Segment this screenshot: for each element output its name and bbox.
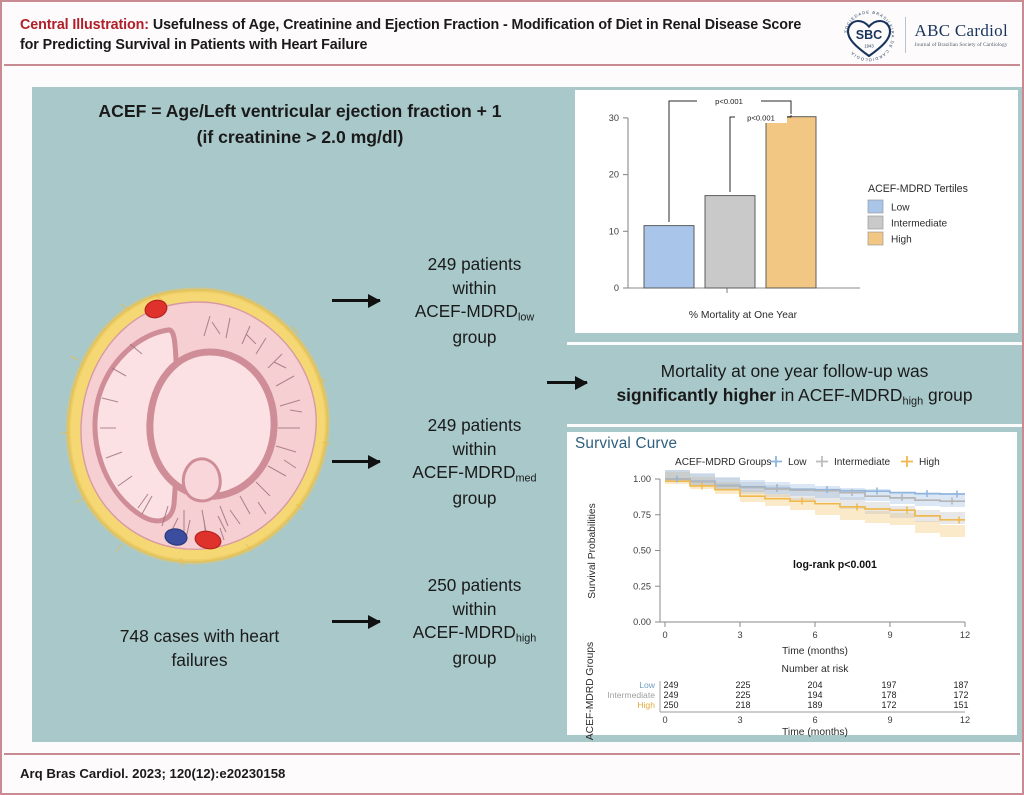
risk-table-x-ticks: 036 912: [662, 715, 970, 725]
svg-text:3: 3: [737, 715, 742, 725]
svg-text:249: 249: [663, 680, 678, 690]
conclusion-subscript: high: [902, 396, 923, 408]
risk-row-label-high: High: [637, 700, 655, 710]
heart-cross-section-illustration: [60, 282, 345, 572]
sbc-heart-logo-icon: SBC 1943 SOCIEDADE BRASILEIRA DE CARDIOL…: [842, 9, 896, 61]
flow-diagram-panel: ACEF = Age/Left ventricular ejection fra…: [32, 87, 567, 742]
arrow-to-med-group: [332, 460, 380, 463]
svg-text:12: 12: [960, 715, 970, 725]
group-high-count: 250 patients: [387, 574, 562, 598]
km-legend: ACEF-MDRD Groups Low Intermediate High: [675, 456, 940, 468]
bar-legend-label-low: Low: [891, 203, 910, 214]
bar-legend-title: ACEF-MDRD Tertiles: [868, 183, 968, 195]
survival-curve-title: Survival Curve: [575, 435, 677, 453]
km-legend-mark-intermediate: [816, 456, 828, 467]
risk-row-high: 250218 189172151: [663, 700, 968, 710]
risk-row-intermediate: 249225 194178172: [663, 690, 968, 700]
svg-text:197: 197: [881, 680, 896, 690]
central-illustration-label: Central Illustration:: [20, 17, 149, 33]
km-legend-label-intermediate: Intermediate: [834, 457, 890, 468]
svg-text:1.00: 1.00: [633, 474, 651, 484]
acef-equation-line2: (if creatinine > 2.0 mg/dl): [50, 125, 550, 151]
group-low-group: group: [387, 326, 562, 350]
risk-table-title: Number at risk: [782, 664, 850, 675]
svg-text:0.75: 0.75: [633, 510, 651, 520]
risk-table-y-label: ACEF-MDRD Groups: [585, 642, 596, 740]
total-cases-line1: 748 cases with heart: [77, 624, 322, 648]
risk-table-x-label: Time (months): [782, 727, 848, 738]
svg-text:172: 172: [881, 700, 896, 710]
risk-row-low: 249225 204197187: [663, 680, 968, 690]
bar-legend-label-high: High: [891, 235, 912, 246]
total-cases-line2: failures: [77, 648, 322, 672]
bar-legend-label-intermediate: Intermediate: [891, 219, 947, 230]
svg-text:12: 12: [960, 630, 970, 640]
central-illustration-page: Central Illustration: Usefulness of Age,…: [0, 0, 1024, 795]
svg-text:SBC: SBC: [855, 28, 881, 42]
svg-text:30: 30: [609, 113, 619, 123]
svg-text:0.00: 0.00: [633, 617, 651, 627]
km-legend-title: ACEF-MDRD Groups: [675, 457, 771, 468]
svg-text:6: 6: [812, 630, 817, 640]
svg-text:0: 0: [614, 283, 619, 293]
group-med-subscript: med: [516, 473, 537, 485]
bar-chart-svg: 0 10 20 30 p<0.001: [575, 90, 1018, 333]
group-low-subscript: low: [518, 312, 534, 324]
svg-text:249: 249: [663, 690, 678, 700]
group-med-label: 249 patients within ACEF-MDRDmed group: [387, 414, 562, 511]
group-med-within: within: [387, 438, 562, 462]
risk-row-label-intermediate: Intermediate: [607, 690, 655, 700]
km-x-ticks: 0 3 6 9 12: [662, 622, 970, 640]
arrow-to-high-group: [332, 620, 380, 623]
group-high-subscript: high: [516, 633, 536, 645]
group-med-count: 249 patients: [387, 414, 562, 438]
svg-text:189: 189: [807, 700, 822, 710]
survival-curve-chart: Survival Curve ACEF-MDRD Groups Low Inte…: [567, 432, 1017, 735]
arrow-to-conclusion: [547, 381, 587, 384]
conclusion-line1: Mortality at one year follow-up was: [616, 359, 972, 384]
svg-text:9: 9: [887, 630, 892, 640]
group-high-name: ACEF-MDRDhigh: [387, 621, 562, 646]
km-legend-mark-high: [901, 456, 913, 467]
bar-legend-swatch-low: [868, 200, 883, 213]
acef-equation: ACEF = Age/Left ventricular ejection fra…: [50, 99, 550, 150]
conclusion-line2: significantly higher in ACEF-MDRDhigh gr…: [616, 383, 972, 410]
bar-x-axis-label: % Mortality at One Year: [689, 310, 798, 321]
group-high-label: 250 patients within ACEF-MDRDhigh group: [387, 574, 562, 671]
svg-text:0: 0: [662, 715, 667, 725]
acef-equation-line1: ACEF = Age/Left ventricular ejection fra…: [50, 99, 550, 125]
bar-legend-swatch-high: [868, 232, 883, 245]
group-high-group: group: [387, 647, 562, 671]
svg-text:0: 0: [662, 630, 667, 640]
svg-text:250: 250: [663, 700, 678, 710]
log-rank-annotation: log-rank p<0.001: [793, 559, 877, 571]
arrow-to-low-group: [332, 299, 380, 302]
svg-text:10: 10: [609, 226, 619, 236]
group-high-within: within: [387, 598, 562, 622]
bar-chart-legend: ACEF-MDRD Tertiles Low Intermediate High: [868, 183, 968, 246]
citation: Arq Bras Cardiol. 2023; 120(12):e2023015…: [20, 766, 285, 781]
bar-intermediate: [705, 196, 755, 288]
svg-text:178: 178: [881, 690, 896, 700]
svg-text:0.25: 0.25: [633, 581, 651, 591]
group-low-name: ACEF-MDRDlow: [387, 300, 562, 325]
group-low-count: 249 patients: [387, 253, 562, 277]
group-med-name: ACEF-MDRDmed: [387, 461, 562, 486]
svg-text:218: 218: [735, 700, 750, 710]
km-legend-mark-low: [770, 456, 782, 467]
svg-text:20: 20: [609, 170, 619, 180]
risk-row-label-low: Low: [639, 680, 656, 690]
bar-y-ticks: 0 10 20 30: [609, 113, 628, 293]
journal-logo: SBC 1943 SOCIEDADE BRASILEIRA DE CARDIOL…: [842, 9, 1009, 61]
page-header: Central Illustration: Usefulness of Age,…: [4, 4, 1020, 66]
survival-curve-svg: ACEF-MDRD Groups Low Intermediate High: [567, 432, 1017, 735]
svg-text:9: 9: [887, 715, 892, 725]
svg-text:6: 6: [812, 715, 817, 725]
total-cases-label: 748 cases with heart failures: [77, 624, 322, 673]
svg-text:0.50: 0.50: [633, 546, 651, 556]
conclusion-emphasis: significantly higher: [616, 385, 775, 405]
page-footer: Arq Bras Cardiol. 2023; 120(12):e2023015…: [4, 753, 1020, 791]
bar-low: [644, 226, 694, 288]
journal-tagline: Journal of Brazilian Society of Cardiolo…: [915, 42, 1009, 48]
bar-legend-swatch-intermediate: [868, 216, 883, 229]
svg-text:172: 172: [953, 690, 968, 700]
svg-text:225: 225: [735, 690, 750, 700]
conclusion-text: Mortality at one year follow-up was sign…: [616, 359, 972, 411]
logo-divider: [905, 17, 906, 53]
svg-text:204: 204: [807, 680, 822, 690]
pvalue-med-high: p<0.001: [747, 114, 775, 123]
svg-text:151: 151: [953, 700, 968, 710]
km-legend-label-low: Low: [788, 457, 807, 468]
pvalue-low-high: p<0.001: [715, 97, 743, 106]
page-title: Central Illustration: Usefulness of Age,…: [20, 15, 820, 56]
km-y-axis-label: Survival Probabilities: [587, 503, 598, 599]
svg-text:3: 3: [737, 630, 742, 640]
risk-table: Low Intermediate High 249225 204197187 2…: [607, 680, 970, 725]
km-y-ticks: 1.00 0.75 0.50 0.25 0.00: [633, 474, 660, 627]
journal-name-block: ABC Cardiol Journal of Brazilian Society…: [915, 22, 1009, 48]
bar-high: [766, 117, 816, 288]
group-low-within: within: [387, 277, 562, 301]
svg-text:225: 225: [735, 680, 750, 690]
mortality-bar-chart: 0 10 20 30 p<0.001: [575, 90, 1018, 333]
group-med-group: group: [387, 487, 562, 511]
journal-name: ABC Cardiol: [915, 22, 1009, 40]
conclusion-panel: Mortality at one year follow-up was sign…: [567, 345, 1022, 424]
km-x-axis-label: Time (months): [782, 646, 848, 657]
svg-text:194: 194: [807, 690, 822, 700]
group-low-label: 249 patients within ACEF-MDRDlow group: [387, 253, 562, 350]
km-legend-label-high: High: [919, 457, 940, 468]
svg-text:187: 187: [953, 680, 968, 690]
svg-text:1943: 1943: [864, 44, 874, 49]
